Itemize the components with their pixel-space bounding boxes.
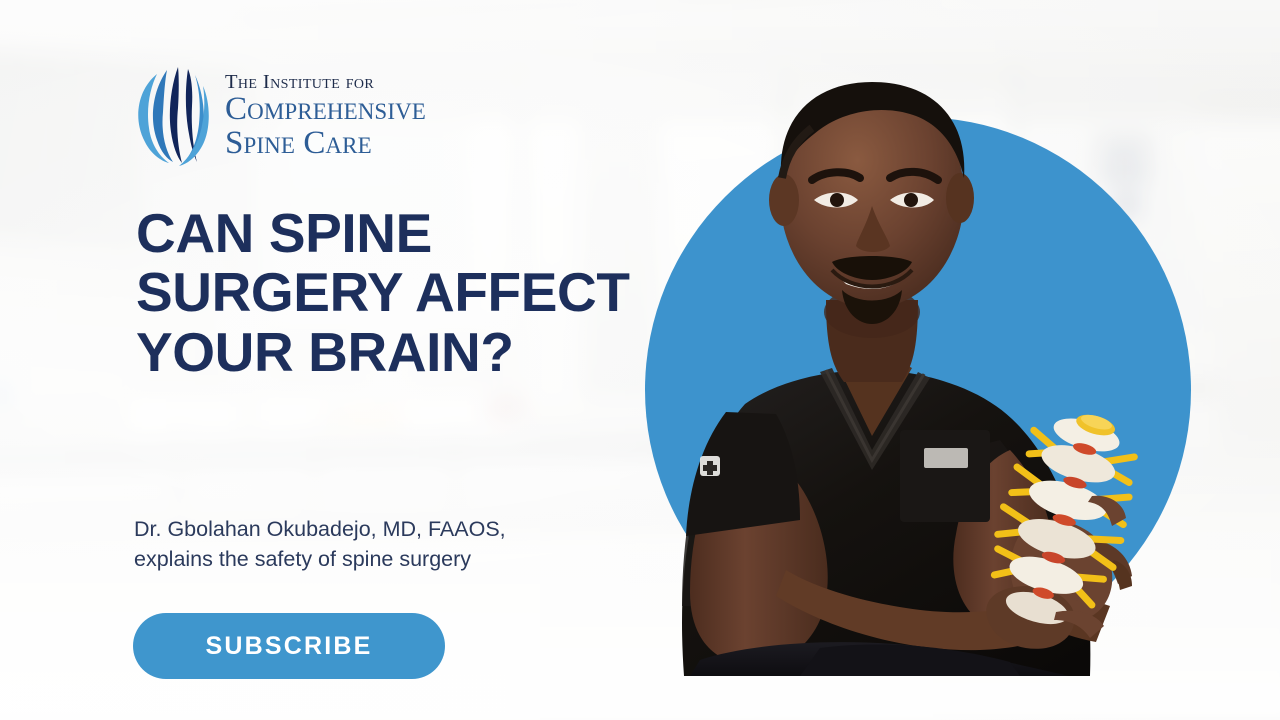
brand-line-3: Spine Care bbox=[225, 127, 426, 161]
headline-line-3: Your Brain? bbox=[136, 323, 696, 382]
ear-right bbox=[946, 173, 974, 223]
chest-pocket bbox=[900, 430, 990, 522]
pupil-left bbox=[830, 193, 844, 207]
pupil-right bbox=[904, 193, 918, 207]
subtitle-line-1: Dr. Gbolahan Okubadejo, MD, FAAOS, bbox=[134, 515, 604, 545]
subscribe-button[interactable]: SUBSCRIBE bbox=[133, 613, 445, 679]
brand-wordmark: The Institute for Comprehensive Spine Ca… bbox=[225, 72, 426, 161]
brand-line-1: The Institute for bbox=[225, 72, 426, 93]
subtitle-line-2: explains the safety of spine surgery bbox=[134, 545, 604, 575]
headline-line-1: Can Spine bbox=[136, 204, 696, 263]
spine-flame-logo-icon bbox=[133, 64, 211, 168]
sleeve-badge bbox=[700, 456, 720, 476]
ear-left bbox=[769, 174, 799, 226]
brand-line-2: Comprehensive bbox=[225, 93, 426, 127]
subtitle: Dr. Gbolahan Okubadejo, MD, FAAOS, expla… bbox=[134, 515, 604, 574]
pocket-logo-tag bbox=[924, 448, 968, 468]
video-thumbnail: The Institute for Comprehensive Spine Ca… bbox=[0, 0, 1280, 720]
brand-logo[interactable]: The Institute for Comprehensive Spine Ca… bbox=[133, 64, 426, 168]
page-title: Can Spine Surgery Affect Your Brain? bbox=[136, 204, 696, 382]
headline-line-2: Surgery Affect bbox=[136, 263, 696, 322]
